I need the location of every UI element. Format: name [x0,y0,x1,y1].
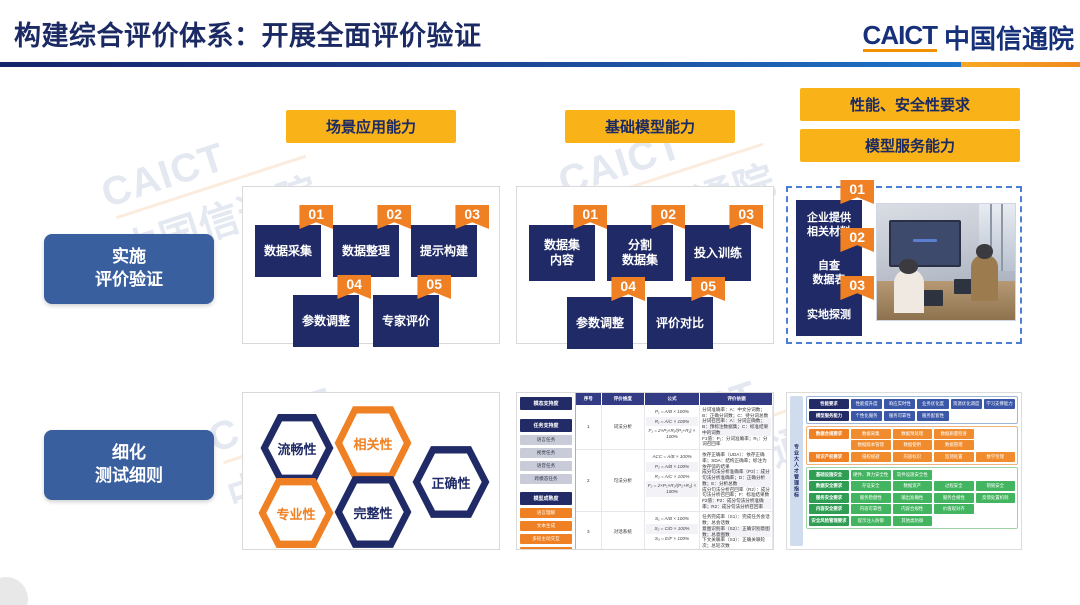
rail-group-item: …… [520,547,572,550]
column-header-dim: 评价维度 [602,393,645,405]
capability-cell: 提示注入防御 [851,516,891,526]
formula: R₁ = A/C × 100% [646,417,698,427]
step-label: 分割 数据集 [607,225,673,281]
capability-cell: 服务合规性 [934,493,974,503]
capability-cells: 性能提升度 响应实时性 业务优化度 资源优化调度 学习支撑能力 [851,399,1015,409]
capability-cell: 数据预处理 [893,429,933,439]
capability-cell-empty [934,470,974,480]
panel-scene-steps: 01 数据采集 02 数据整理 03 提示构建 04 参数调整 05 专家评价 [242,186,500,344]
capability-cell: 数据质量检查 [934,429,974,439]
cell-formulas: S₁ = A/B × 100% S₂ = C/D × 100% S₃ = E/F… [645,512,700,550]
cell-no: 1 [576,405,602,449]
capability-cell: 服务稳健性 [851,493,891,503]
rail-line-1: 细化 [44,442,214,465]
capability-cells: 数据版本管理 数据使用 数据管理 [851,440,1015,450]
formula: F₁ = 2×P₁×R₁/(P₁+R₁) × 100% [646,426,698,441]
divider-blue-segment [0,62,961,67]
formula: F₂ = 2×P₂×R₂/(P₂+R₂) × 100% [646,481,698,496]
rail-group-caption: 任务支持度 [520,419,572,432]
capability-cell-empty [934,516,974,526]
step-label: 参数调整 [567,297,633,349]
onsite-meeting-photo [876,203,1016,321]
hexagon-label: 专业性 [276,504,315,523]
panel-capability-map: 专业大人才管理指标 性能要求 性能提升度 响应实时性 业务优化度 资源优化调度 … [786,392,1022,550]
hexagon-accuracy: 正确性 [411,443,491,521]
rail-label-implementation: 实施 评价验证 [44,234,214,304]
capability-cell: 性能提升度 [851,399,882,409]
capability-cell-empty [976,504,1016,514]
capability-cells: 个性化服务 服务可靠性 服务配套性 [851,411,1015,421]
cell-formulas: P₁ = A/B × 100% R₁ = A/C × 100% F₁ = 2×P… [645,405,700,449]
capability-cell: 侵权规避 [851,452,891,462]
capability-group-data: 数据合规要求 数据采集 数据预处理 数据质量检查 数据版本管理 数据使用 数据管… [806,426,1018,465]
formula: P₂ = A/B × 100% [646,462,698,472]
step-label: 参数调整 [293,295,359,347]
basis-line: 任务完成率（S1）：完成任务会话数；总会话数 [702,514,771,525]
formula: P₁ = A/B × 100% [646,407,698,417]
rail-group-item: 语言理解 [520,508,572,518]
step-card: 02 数据整理 [333,225,399,277]
rail-group-caption: 模态支持度 [520,397,572,410]
cell-basis: 依存正确率（UDA）：依存正确率；SDA：结构正确率；标注为依存弧的结果 成分句… [700,450,773,511]
step-card: 02 分割 数据集 [607,225,673,281]
cell-dim: 词法分析 [602,405,645,449]
capability-cell: 硬件、算力安全性 [851,470,891,480]
person-shape [894,269,924,313]
capability-cell: 输出准确性 [893,493,933,503]
capability-line: 安全风险管理要求 提示注入防御 其他类防御 [809,516,1015,526]
step-card: 05 评价对比 [647,297,713,349]
capability-map-body: 性能要求 性能提升度 响应实时性 业务优化度 资源优化调度 学习支撑能力 模型服… [803,396,1018,546]
rail-group-item: 语言任务 [520,435,572,445]
capability-cells: 提示注入防御 其他类防御 [851,516,1015,526]
step-card: 03 投入训练 [685,225,751,281]
cell-basis: 任务完成率（S1）：完成任务会话数；总会话数 意图识别率（S2）：正确识别意图数… [700,512,773,550]
cell-no: 3 [576,512,602,550]
capability-head: 知识产权要求 [809,452,849,462]
slide-root: CAICT中国信通院 CAICT中国信通院 CAICT中国信通院 CAICT中国… [0,0,1080,605]
capability-head: 安全风险管理要求 [809,516,849,526]
hexagon-professionalism: 专业性 [257,475,335,551]
metrics-grid: 序号 评价维度 公式 评价依据 1 词法分析 P₁ = A/B × 100% R… [575,393,773,549]
capability-head-blank [809,443,849,447]
capability-head: 数据合规要求 [809,429,849,439]
capability-line: 知识产权要求 侵权规避 内容标识 监测处置 数学伦理 [809,452,1015,462]
basis-line: 分词准确率：A：中文分词数；B：正确分词数；C：待分词总数 [702,407,771,418]
rail-group-item: 语音任务 [520,461,572,471]
capability-cell-empty [976,429,1016,439]
capability-group-security: 基础设施安全 硬件、算力安全性 软件设施安全性 数据安全要求 存证安全 数据资产… [806,467,1018,529]
rail-group-caption: 模型成熟度 [520,492,572,505]
capability-cell: 监测处置 [934,452,974,462]
step-label: 实地探测 [796,296,862,336]
panel-hexagons: 流畅性 相关性 正确性 专业性 完整性 [242,392,500,550]
rail-group-item: 跨模态任务 [520,474,572,484]
divider-orange-segment [961,62,1080,67]
formula: ACC = A/B × 100% [646,452,698,462]
capability-cells: 数据采集 数据预处理 数据质量检查 [851,429,1015,439]
capability-cell: 业务优化度 [917,399,948,409]
basis-line: F1值：P₁：分词准确率；R₁：分词召回率 [702,436,771,447]
formula: S₂ = C/D × 100% [646,524,698,534]
hexagon-label: 正确性 [431,473,470,492]
hexagon-fluency: 流畅性 [259,411,335,485]
column-header-no: 序号 [576,393,602,405]
step-card: 03 实地探测 [796,296,862,336]
capability-cell-empty [976,470,1016,480]
capability-cell-empty [984,411,1015,421]
basis-line: 分词召回率：A：分词正确数；B：预标注数据集；C：标准结果中的词数 [702,418,771,435]
capability-cells: 存证安全 数据资产 过程安全 销毁安全 [851,481,1015,491]
step-card: 04 参数调整 [293,295,359,347]
capability-line: 性能要求 性能提升度 响应实时性 业务优化度 资源优化调度 学习支撑能力 [809,399,1015,409]
step-label: 提示构建 [411,225,477,277]
column-header-formula: 公式 [645,393,700,405]
column-header-basis: 评价依据 [700,393,773,405]
rail-line-1: 实施 [44,246,214,269]
capability-cells: 硬件、算力安全性 软件设施安全性 [851,470,1015,480]
rail-group-item: 视觉任务 [520,448,572,458]
basis-line: 下文关联率（S3）：正确关联轮次；总轮次数 [702,537,771,548]
capability-line: 服务安全要求 服务稳健性 输出准确性 服务合规性 反馈处置机制 [809,493,1015,503]
capability-cell-empty [976,516,1016,526]
capability-head: 内容安全要求 [809,504,849,514]
capability-line: 数据合规要求 数据采集 数据预处理 数据质量检查 [809,429,1015,439]
capability-cell: 内容合规性 [893,504,933,514]
panel-metrics-table: 模态支持度 任务支持度 语言任务 视觉任务 语音任务 跨模态任务 模型成熟度 语… [516,392,774,550]
cell-no: 2 [576,450,602,511]
step-card: 04 参数调整 [567,297,633,349]
column-header-service: 模型服务能力 [800,129,1020,162]
formula: S₁ = A/B × 100% [646,514,698,524]
formula: R₂ = A/C × 100% [646,472,698,482]
capability-line: 内容安全要求 内容可靠性 内容合规性 价值观对齐 [809,504,1015,514]
display-screen-shape [889,220,961,266]
metrics-left-rail: 模态支持度 任务支持度 语言任务 视觉任务 语音任务 跨模态任务 模型成熟度 语… [517,393,575,549]
basis-line: 成分句法分析召回率（R2）：成分句法分析召回率；F：标准结果数 [702,487,771,498]
capability-head: 基础设施安全 [809,470,849,480]
capability-line: 数据版本管理 数据使用 数据管理 [809,440,1015,450]
hexagon-group: 流畅性 相关性 正确性 专业性 完整性 [243,393,499,549]
basis-line: F2值：P2：成分句法分析准确率；R2：成分句法分析召回率 [702,498,771,509]
capability-cell: 响应实时性 [884,399,915,409]
capability-cell: 过程安全 [934,481,974,491]
capability-cell: 反馈处置机制 [976,493,1016,503]
hexagon-completeness: 完整性 [333,473,413,551]
cell-dim: 对话系统 [602,512,645,550]
hexagon-label: 相关性 [353,434,392,453]
capability-cell: 其他类防御 [893,516,933,526]
cell-formulas: ACC = A/B × 100% P₂ = A/B × 100% R₂ = A/… [645,450,700,511]
table-row: 2 句法分析 ACC = A/B × 100% P₂ = A/B × 100% … [576,450,773,512]
capability-cells: 服务稳健性 输出准确性 服务合规性 反馈处置机制 [851,493,1015,503]
capability-cell: 服务配套性 [917,411,948,421]
hexagon-label: 完整性 [353,503,392,522]
page-title: 构建综合评价体系：开展全面评价验证 [14,14,482,53]
capability-cell: 内容可靠性 [851,504,891,514]
column-header-model: 基础模型能力 [565,110,735,143]
capability-head: 性能要求 [809,399,849,409]
step-label: 数据集 内容 [529,225,595,281]
capability-cell: 数学伦理 [976,452,1016,462]
step-label: 数据整理 [333,225,399,277]
column-header-performance: 性能、安全性要求 [800,88,1020,121]
caict-logo: CAICT 中国信通院 [863,22,1074,52]
formula: S₃ = E/F × 100% [646,534,698,544]
corner-decoration [0,577,28,605]
table-header-row: 序号 评价维度 公式 评价依据 [576,393,773,405]
capability-cells: 侵权规避 内容标识 监测处置 数学伦理 [851,452,1015,462]
capability-cell: 服务可靠性 [884,411,915,421]
logo-cn-text: 中国信通院 [944,26,1074,52]
hexagon-relevance: 相关性 [333,403,413,483]
capability-cell-empty [976,440,1016,450]
panel-model-steps: 01 数据集 内容 02 分割 数据集 03 投入训练 04 参数调整 05 评… [516,186,774,344]
step-label: 投入训练 [685,225,751,281]
basis-line: 依存正确率（UDA）：依存正确率；SDA：结构正确率；标注为依存弧的结果 [702,452,771,469]
capability-cell: 个性化服务 [851,411,882,421]
capability-cell: 数据使用 [893,440,933,450]
capability-cell: 数据资产 [893,481,933,491]
capability-cell: 内容标识 [893,452,933,462]
rail-label-refinement: 细化 测试细则 [44,430,214,500]
capability-cell: 数据版本管理 [851,440,891,450]
capability-line: 模型服务能力 个性化服务 服务可靠性 服务配套性 [809,411,1015,421]
rail-line-2: 测试细则 [44,465,214,488]
step-card: 03 提示构建 [411,225,477,277]
capability-cell-empty [951,411,982,421]
capability-line: 基础设施安全 硬件、算力安全性 软件设施安全性 [809,470,1015,480]
person-shape [971,255,999,301]
basis-line: 成分句法分析准确率（P2）：成分句法分析准确率；D：正确分析数；E：分析总数 [702,469,771,486]
capability-cell: 数据管理 [934,440,974,450]
rail-group-item: 多轮主动交互 [520,534,572,544]
slide-header: 构建综合评价体系：开展全面评价验证 CAICT 中国信通院 [0,0,1080,72]
header-divider [0,62,1080,67]
capability-cell: 软件设施安全性 [893,470,933,480]
cell-basis: 分词准确率：A：中文分词数；B：正确分词数；C：待分词总数 分词召回率：A：分词… [700,405,773,449]
capability-cell: 资源优化调度 [951,399,982,409]
capability-head: 模型服务能力 [809,411,849,421]
step-card: 01 数据采集 [255,225,321,277]
capability-cells: 内容可靠性 内容合规性 价值观对齐 [851,504,1015,514]
capability-line: 数据安全要求 存证安全 数据资产 过程安全 销毁安全 [809,481,1015,491]
step-label: 专家评价 [373,295,439,347]
table-row: 1 词法分析 P₁ = A/B × 100% R₁ = A/C × 100% F… [576,405,773,450]
capability-head: 数据安全要求 [809,481,849,491]
capability-cell: 学习支撑能力 [984,399,1015,409]
capability-map-rail-label: 专业大人才管理指标 [790,396,803,546]
hexagon-label: 流畅性 [277,439,316,458]
rail-group-item: 文本生成 [520,521,572,531]
capability-cell: 销毁安全 [976,481,1016,491]
table-row: 3 对话系统 S₁ = A/B × 100% S₂ = C/D × 100% S… [576,512,773,550]
step-card: 05 专家评价 [373,295,439,347]
basis-line: 意图识别率（S2）：正确识别意图数；总意图数 [702,526,771,537]
capability-head: 服务安全要求 [809,493,849,503]
step-label: 评价对比 [647,297,713,349]
step-label: 数据采集 [255,225,321,277]
column-header-scene: 场景应用能力 [286,110,456,143]
step-card: 01 数据集 内容 [529,225,595,281]
cell-dim: 句法分析 [602,450,645,511]
capability-cell: 数据采集 [851,429,891,439]
rail-line-2: 评价验证 [44,269,214,292]
capability-cell: 存证安全 [851,481,891,491]
capability-cell: 价值观对齐 [934,504,974,514]
capability-group-performance: 性能要求 性能提升度 响应实时性 业务优化度 资源优化调度 学习支撑能力 模型服… [806,396,1018,424]
logo-abbr-text: CAICT [863,22,937,52]
